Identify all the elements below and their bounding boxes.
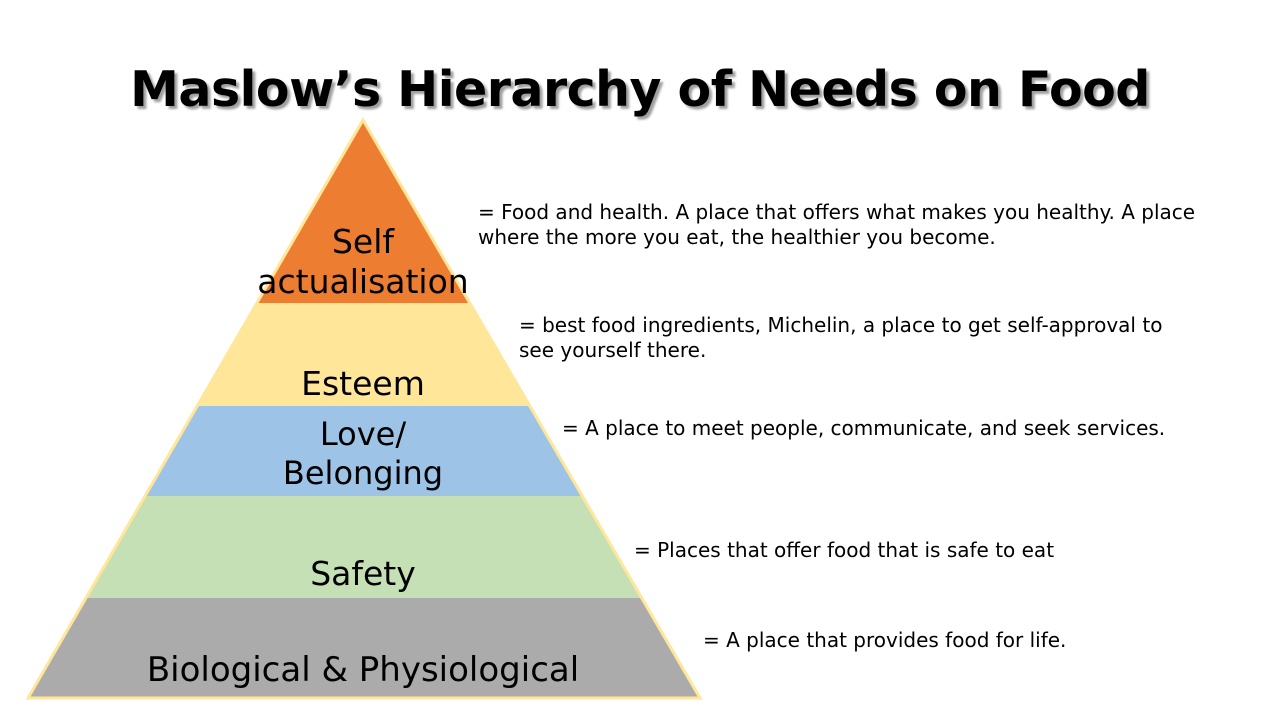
annotation-esteem: = best food ingredients, Michelin, a pla… [519,313,1191,363]
annotation-biological-physiological: = A place that provides food for life. [703,628,1193,653]
slide-canvas: Maslow’s Hierarchy of Needs on Food Self… [0,0,1280,720]
annotation-self-actualisation: = Food and health. A place that offers w… [478,200,1200,250]
annotation-love-belonging: = A place to meet people, communicate, a… [562,416,1187,441]
pyramid-tier-biological-physiological [0,598,730,700]
pyramid-tier-safety [0,496,730,598]
annotation-safety: = Places that offer food that is safe to… [634,538,1194,563]
